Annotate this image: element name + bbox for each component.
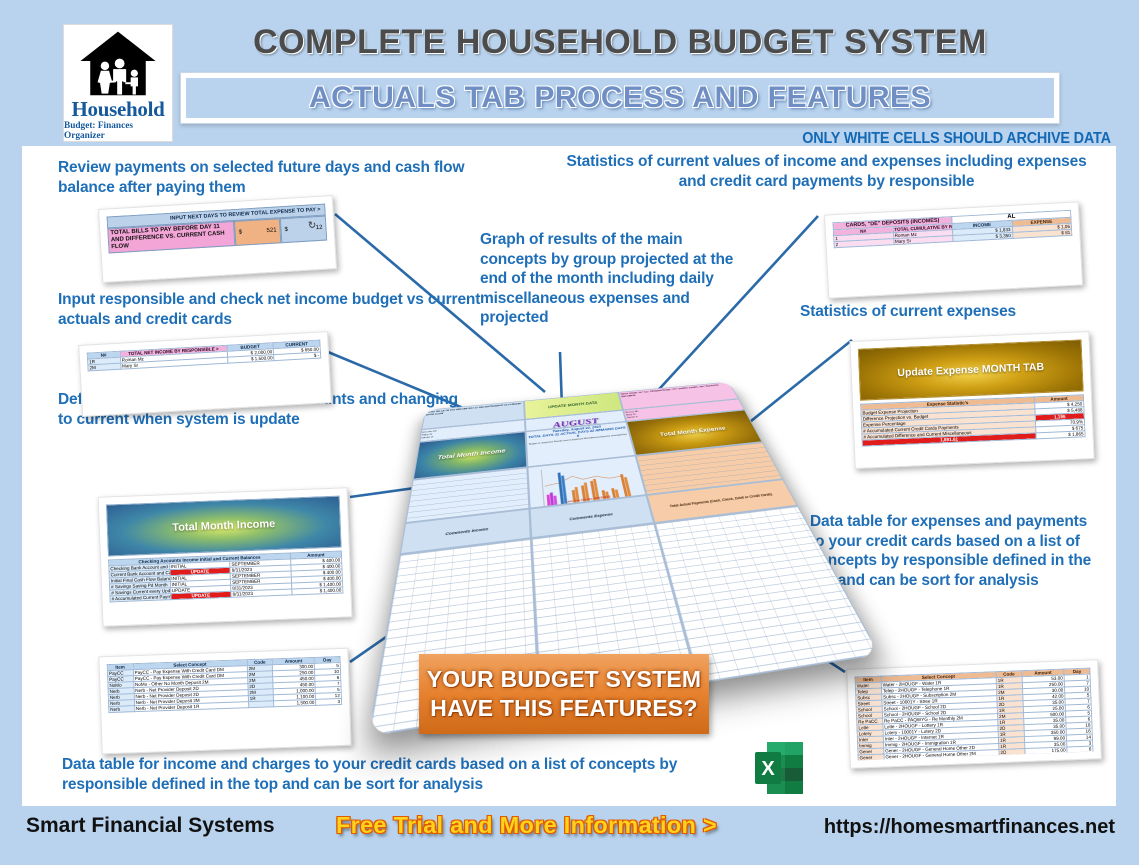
poster-root: Household Budget: Finances Organizer COM… bbox=[0, 0, 1139, 865]
screenshot-cards-deposits[interactable]: CARDS, "DE" DEPOSITS (INCOMES) AL N# TOT… bbox=[824, 201, 1083, 298]
callout-review-payments: Review payments on selected future days … bbox=[58, 158, 478, 197]
expense-data-table: Item Select Concept Code Amount Day Wate… bbox=[854, 668, 1093, 761]
cell-item: Gener bbox=[858, 754, 884, 761]
row-budget: $ 1,500.00 bbox=[227, 355, 274, 364]
cell-day: 6 bbox=[1067, 746, 1093, 753]
callout-statistics-income-expenses: Statistics of current values of income a… bbox=[554, 152, 1099, 191]
payments-title-label: Total Actual Payments (Cash, Check, Debi… bbox=[669, 492, 773, 508]
review-blue-value: $ 12 bbox=[280, 216, 327, 243]
cell-code bbox=[248, 701, 274, 708]
net-income-table: N# TOTAL NET INCOME BY RESPONSIBLE > BUD… bbox=[87, 340, 322, 372]
cell-item: Nerb bbox=[109, 706, 135, 713]
screenshot-review-payments[interactable]: INPUT NEXT DAYS TO REVIEW TOTAL EXPENSE … bbox=[98, 195, 337, 283]
callout-data-table-expenses: Data table for expenses and payments to … bbox=[810, 512, 1100, 590]
review-orange-value: $ 521 bbox=[234, 218, 281, 245]
cell-amount: 1,500.00 bbox=[274, 699, 316, 706]
subtitle-banner: ACTUALS TAB PROCESS AND FEATURES bbox=[186, 78, 1054, 118]
callout-input-responsible: Input responsible and check net income b… bbox=[58, 290, 488, 329]
footer-brand: Smart Financial Systems bbox=[26, 814, 275, 838]
footer-cta-link[interactable]: Free Trial and More Information > bbox=[336, 812, 717, 839]
screenshot-update-expense[interactable]: Update Expense MONTH TAB Expense Statist… bbox=[849, 331, 1094, 469]
household-logo: Household Budget: Finances Organizer bbox=[63, 24, 173, 142]
review-blue-amount: 12 bbox=[316, 225, 323, 231]
house-family-icon bbox=[75, 30, 161, 99]
update-expense-banner: Update Expense MONTH TAB bbox=[858, 339, 1084, 400]
review-orange-amount: 521 bbox=[266, 228, 276, 235]
screenshot-net-income[interactable]: N# TOTAL NET INCOME BY RESPONSIBLE > BUD… bbox=[78, 331, 332, 417]
comments-income-label: Comments Income bbox=[445, 526, 488, 536]
row-amount: $ 1,400.00 bbox=[292, 587, 343, 595]
callout-statistics-expenses: Statistics of current expenses bbox=[800, 302, 1070, 322]
cell-amount: 175.00 bbox=[1025, 747, 1067, 755]
central-spreadsheet-3d[interactable]: TOTAL BILLS TO PAY BEFORE DAY 11 AND DIF… bbox=[420, 368, 764, 633]
checking-accounts-table: Checking Accounts Income Initial and Cur… bbox=[108, 551, 343, 603]
cell-day: 3 bbox=[316, 698, 342, 705]
cell-code: 2D bbox=[999, 749, 1025, 756]
callout-graph-results: Graph of results of the main concepts by… bbox=[480, 230, 750, 328]
banner-line-2: HAVE THIS FEATURES? bbox=[430, 695, 697, 722]
right-header-text: INPUT CODE "AL" ALL TRANSACTIONS, "CC" C… bbox=[620, 384, 719, 398]
budget-system-banner: YOUR BUDGET SYSTEM HAVE THIS FEATURES? bbox=[419, 654, 709, 734]
currency-symbol-2: $ bbox=[284, 227, 288, 233]
left-header-text: TOTAL BILLS TO PAY BEFORE DAY 11 AND DIF… bbox=[426, 402, 522, 416]
screenshot-expense-data-table[interactable]: Item Select Concept Code Amount Day Wate… bbox=[846, 659, 1102, 769]
expense-statistics-table: Expense Statistic's Amount Budget Expens… bbox=[860, 394, 1086, 446]
svg-text:X: X bbox=[761, 758, 775, 780]
row-amount: $ 1,865 bbox=[1036, 431, 1085, 439]
screenshot-total-month-income[interactable]: Total Month Income Checking Accounts Inc… bbox=[98, 487, 353, 627]
comments-expense-label: Comments Expense bbox=[569, 511, 613, 521]
screenshot-income-data-table[interactable]: Item Select Concept Code Amount Day PayC… bbox=[98, 648, 351, 755]
update-month-data-label: UPDATE MONTH DATA bbox=[548, 401, 598, 409]
logo-tagline: Budget: Finances Organizer bbox=[64, 121, 172, 141]
row-current: $ - bbox=[274, 352, 321, 361]
subtitle-text: ACTUALS TAB PROCESS AND FEATURES bbox=[309, 81, 931, 115]
logo-wordmark: Household bbox=[72, 99, 165, 120]
page-title: COMPLETE HOUSEHOLD BUDGET SYSTEM bbox=[170, 23, 1070, 71]
currency-symbol: $ bbox=[239, 230, 243, 236]
banner-line-1: YOUR BUDGET SYSTEM bbox=[427, 666, 702, 693]
cards-deposits-table: CARDS, "DE" DEPOSITS (INCOMES) AL N# TOT… bbox=[832, 210, 1072, 248]
callout-data-table-income: Data table for income and charges to you… bbox=[62, 755, 712, 794]
excel-file-icon: X bbox=[753, 740, 805, 796]
income-data-table: Item Select Concept Code Amount Day PayC… bbox=[107, 656, 343, 713]
total-month-income-banner: Total Month Income bbox=[106, 496, 342, 557]
row-id: 2M bbox=[88, 363, 121, 371]
refresh-icon[interactable]: ↻ bbox=[308, 220, 317, 231]
footer-url[interactable]: https://homesmartfinances.net bbox=[824, 816, 1115, 839]
